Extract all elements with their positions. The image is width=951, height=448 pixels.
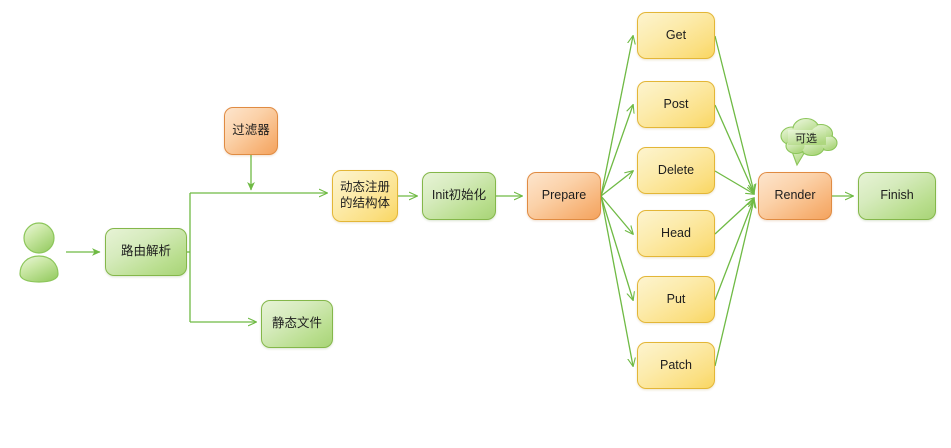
node-label-filter: 过滤器 bbox=[232, 123, 270, 139]
node-register[interactable]: 动态注册 的结构体 bbox=[332, 170, 398, 222]
node-prepare[interactable]: Prepare bbox=[527, 172, 601, 220]
node-filter[interactable]: 过滤器 bbox=[224, 107, 278, 155]
edge-get-render bbox=[715, 36, 754, 192]
node-label-route: 路由解析 bbox=[121, 244, 171, 260]
edge-put-render bbox=[715, 199, 754, 300]
node-label-prepare: Prepare bbox=[542, 188, 586, 204]
node-route[interactable]: 路由解析 bbox=[105, 228, 187, 276]
flowchart-canvas: 可选 路由解析过滤器静态文件动态注册 的结构体Init初始化PrepareGet… bbox=[0, 0, 951, 448]
node-delete[interactable]: Delete bbox=[637, 147, 715, 194]
node-label-put: Put bbox=[667, 292, 686, 308]
node-label-head: Head bbox=[661, 226, 691, 242]
node-label-delete: Delete bbox=[658, 163, 694, 179]
node-label-patch: Patch bbox=[660, 358, 692, 374]
node-label-render: Render bbox=[775, 188, 816, 204]
node-finish[interactable]: Finish bbox=[858, 172, 936, 220]
edge-prepare-put bbox=[601, 196, 633, 300]
node-label-finish: Finish bbox=[880, 188, 913, 204]
node-init[interactable]: Init初始化 bbox=[422, 172, 496, 220]
node-static[interactable]: 静态文件 bbox=[261, 300, 333, 348]
edge-post-render bbox=[715, 105, 754, 193]
edge-prepare-delete bbox=[601, 171, 633, 196]
edge-patch-render bbox=[715, 200, 754, 366]
edge-prepare-post bbox=[601, 105, 633, 196]
edge-prepare-patch bbox=[601, 196, 633, 366]
node-label-post: Post bbox=[663, 97, 688, 113]
node-put[interactable]: Put bbox=[637, 276, 715, 323]
user-icon bbox=[20, 223, 58, 282]
node-label-init: Init初始化 bbox=[432, 188, 486, 204]
optional-cloud-callout: 可选 bbox=[781, 119, 837, 166]
edge-prepare-head bbox=[601, 196, 633, 234]
node-get[interactable]: Get bbox=[637, 12, 715, 59]
node-label-get: Get bbox=[666, 28, 686, 44]
node-label-register: 动态注册 的结构体 bbox=[340, 180, 390, 211]
edge-head-render bbox=[715, 198, 754, 234]
node-head[interactable]: Head bbox=[637, 210, 715, 257]
node-label-static: 静态文件 bbox=[272, 316, 322, 332]
node-patch[interactable]: Patch bbox=[637, 342, 715, 389]
node-render[interactable]: Render bbox=[758, 172, 832, 220]
edge-delete-render bbox=[715, 171, 754, 194]
optional-cloud-label: 可选 bbox=[795, 132, 817, 145]
node-post[interactable]: Post bbox=[637, 81, 715, 128]
edge-layer: 可选 bbox=[0, 0, 951, 448]
edge-prepare-get bbox=[601, 36, 633, 196]
